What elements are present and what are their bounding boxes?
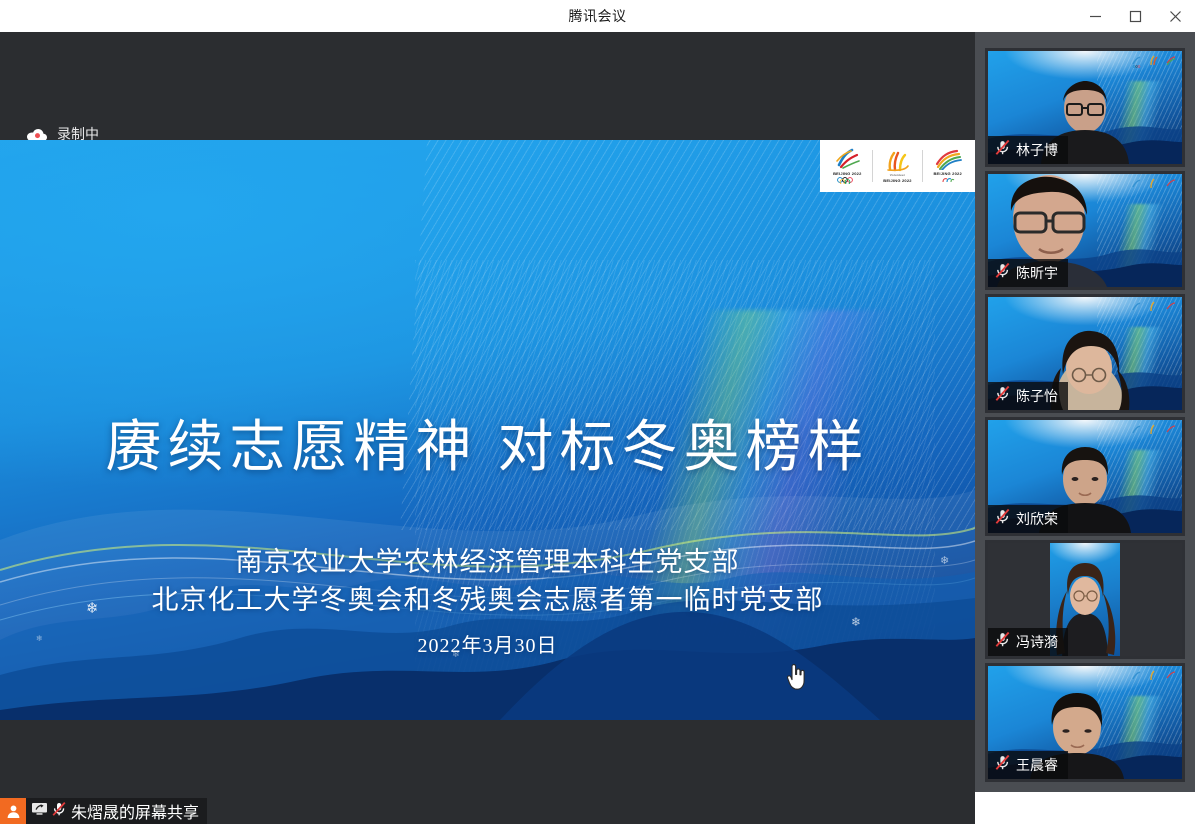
video-background-logos bbox=[1131, 670, 1176, 683]
logo-caption: BEIJING 2022 bbox=[933, 171, 961, 176]
participant-name: 王晨睿 bbox=[1016, 755, 1058, 775]
participant-name-bar: 冯诗漪 bbox=[988, 628, 1068, 656]
maximize-button[interactable] bbox=[1115, 0, 1155, 32]
mic-muted-icon bbox=[994, 262, 1011, 284]
participant-name: 林子博 bbox=[1016, 140, 1058, 160]
minimize-button[interactable] bbox=[1075, 0, 1115, 32]
mic-muted-icon bbox=[994, 139, 1011, 161]
slide-date: 2022年3月30日 bbox=[0, 629, 975, 658]
share-bottom-strip: 朱熠晟的屏幕共享 bbox=[0, 720, 975, 824]
participant-tile[interactable]: 陈子怡 bbox=[985, 294, 1185, 413]
beijing-2022-olympic-logo: BEIJING 2022 bbox=[825, 144, 869, 188]
shared-screen-stage: 录制中 ❄ ❄ ❄ ❄ ❄ bbox=[0, 32, 975, 792]
slide-subtitle-line-2: 北京化工大学冬奥会和冬残奥会志愿者第一临时党支部 bbox=[0, 578, 975, 617]
participant-rail[interactable]: 林子博 bbox=[975, 32, 1195, 792]
logo-caption: BEIJING 2022 bbox=[833, 171, 861, 176]
participant-name: 刘欣荣 bbox=[1016, 509, 1058, 529]
screen-share-icon bbox=[31, 801, 48, 821]
mic-muted-icon bbox=[994, 754, 1011, 776]
beijing-2022-volunteer-logo: Volunteer BEIJING 2022 bbox=[875, 144, 919, 188]
person-icon bbox=[0, 798, 26, 824]
mic-muted-icon bbox=[51, 801, 67, 822]
beijing-2022-paralympic-logo: BEIJING 2022 bbox=[926, 144, 970, 188]
window-title-bar: 腾讯会议 bbox=[0, 0, 1195, 32]
participant-name-bar: 陈昕宇 bbox=[988, 259, 1068, 287]
participant-name: 陈子怡 bbox=[1016, 386, 1058, 406]
presentation-slide[interactable]: ❄ ❄ ❄ ❄ ❄ BEIJING 2022 bbox=[0, 140, 975, 720]
logo-divider bbox=[922, 150, 923, 182]
participant-name-bar: 刘欣荣 bbox=[988, 505, 1068, 533]
share-status-icons bbox=[26, 801, 71, 822]
app-title: 腾讯会议 bbox=[569, 6, 627, 26]
slide-subtitle-line-1: 南京农业大学农林经济管理本科生党支部 bbox=[0, 540, 975, 579]
video-background-logos bbox=[1131, 424, 1176, 437]
participant-name-bar: 陈子怡 bbox=[988, 382, 1068, 410]
stage-top-bar bbox=[0, 32, 975, 140]
close-button[interactable] bbox=[1155, 0, 1195, 32]
logo-divider bbox=[872, 150, 873, 182]
video-background-logos bbox=[1131, 178, 1176, 191]
video-background-logos bbox=[1131, 301, 1176, 314]
screen-share-badge[interactable]: 朱熠晟的屏幕共享 bbox=[0, 798, 207, 824]
participant-name-bar: 林子博 bbox=[988, 136, 1068, 164]
olympic-logo-bar: BEIJING 2022 Volunteer BEIJI bbox=[820, 140, 975, 192]
participant-name-bar: 王晨睿 bbox=[988, 751, 1068, 779]
snowflake-icon: ❄ bbox=[851, 615, 861, 629]
video-background-logos bbox=[1131, 55, 1176, 68]
logo-superscript: Volunteer bbox=[890, 173, 905, 177]
participant-tile[interactable]: 刘欣荣 bbox=[985, 417, 1185, 536]
participant-tile[interactable]: 冯诗漪 bbox=[985, 540, 1185, 659]
mic-muted-icon bbox=[994, 508, 1011, 530]
slide-main-title: 赓续志愿精神 对标冬奥榜样 bbox=[0, 402, 975, 483]
logo-caption: BEIJING 2022 bbox=[883, 178, 911, 183]
participant-tile[interactable]: 陈昕宇 bbox=[985, 171, 1185, 290]
participant-tile[interactable]: 林子博 bbox=[985, 48, 1185, 167]
window-controls bbox=[1075, 0, 1195, 32]
share-owner-label: 朱熠晟的屏幕共享 bbox=[71, 799, 207, 823]
participant-name: 陈昕宇 bbox=[1016, 263, 1058, 283]
mic-muted-icon bbox=[994, 631, 1011, 653]
mic-muted-icon bbox=[994, 385, 1011, 407]
participant-name: 冯诗漪 bbox=[1016, 632, 1058, 652]
participant-tile[interactable]: 王晨睿 bbox=[985, 663, 1185, 782]
